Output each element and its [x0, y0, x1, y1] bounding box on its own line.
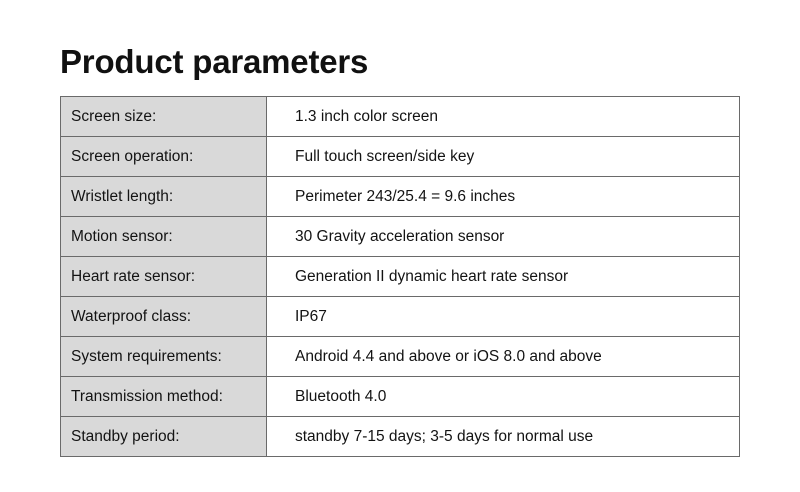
- spec-label-cell: Standby period:: [61, 417, 267, 457]
- table-body: Screen size: 1.3 inch color screen Scree…: [61, 97, 740, 457]
- spec-label-cell: System requirements:: [61, 337, 267, 377]
- page-title: Product parameters: [60, 44, 368, 80]
- table-row: Wristlet length: Perimeter 243/25.4 = 9.…: [61, 177, 740, 217]
- spec-label-cell: Motion sensor:: [61, 217, 267, 257]
- spec-value-cell: Bluetooth 4.0: [267, 377, 740, 417]
- table-row: Screen size: 1.3 inch color screen: [61, 97, 740, 137]
- spec-label-cell: Waterproof class:: [61, 297, 267, 337]
- table-row: Standby period: standby 7-15 days; 3-5 d…: [61, 417, 740, 457]
- spec-value-cell: 1.3 inch color screen: [267, 97, 740, 137]
- spec-value-cell: IP67: [267, 297, 740, 337]
- table-row: Transmission method: Bluetooth 4.0: [61, 377, 740, 417]
- spec-value-cell: Android 4.4 and above or iOS 8.0 and abo…: [267, 337, 740, 377]
- spec-value-cell: Full touch screen/side key: [267, 137, 740, 177]
- spec-label-cell: Screen size:: [61, 97, 267, 137]
- product-parameters-table: Screen size: 1.3 inch color screen Scree…: [60, 96, 740, 457]
- table-row: Heart rate sensor: Generation II dynamic…: [61, 257, 740, 297]
- table-row: System requirements: Android 4.4 and abo…: [61, 337, 740, 377]
- table-row: Waterproof class: IP67: [61, 297, 740, 337]
- spec-value-cell: standby 7-15 days; 3-5 days for normal u…: [267, 417, 740, 457]
- product-parameters-page: Product parameters Screen size: 1.3 inch…: [0, 0, 800, 492]
- table-row: Motion sensor: 30 Gravity acceleration s…: [61, 217, 740, 257]
- table-row: Screen operation: Full touch screen/side…: [61, 137, 740, 177]
- spec-value-cell: Generation II dynamic heart rate sensor: [267, 257, 740, 297]
- spec-label-cell: Heart rate sensor:: [61, 257, 267, 297]
- spec-label-cell: Screen operation:: [61, 137, 267, 177]
- spec-label-cell: Wristlet length:: [61, 177, 267, 217]
- spec-value-cell: Perimeter 243/25.4 = 9.6 inches: [267, 177, 740, 217]
- spec-value-cell: 30 Gravity acceleration sensor: [267, 217, 740, 257]
- spec-label-cell: Transmission method:: [61, 377, 267, 417]
